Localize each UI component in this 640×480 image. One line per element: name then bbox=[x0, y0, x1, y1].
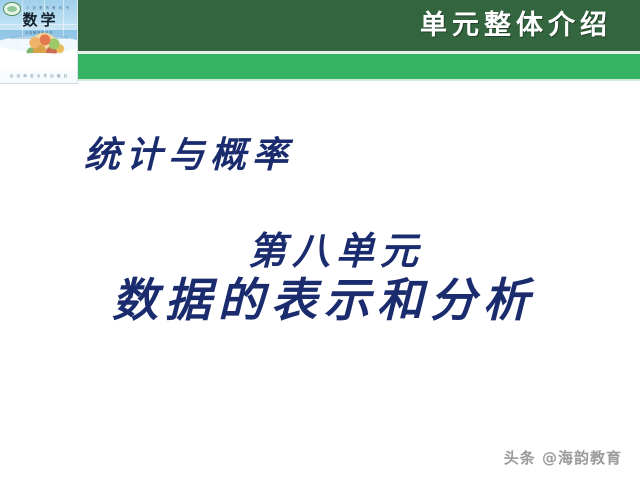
header-title: 单元整体介绍 bbox=[420, 6, 612, 46]
title-topic: 统计与概率 bbox=[84, 126, 294, 178]
header-band-light-edge bbox=[0, 79, 640, 81]
title-subject: 数据的表示和分析 bbox=[112, 264, 536, 330]
book-ground bbox=[0, 53, 78, 69]
book-top-line: 义 务 教 育 教 科 书 bbox=[26, 5, 70, 10]
book-title: 数学 bbox=[0, 13, 78, 28]
presentation-slide: 单元整体介绍 义 务 教 育 教 科 书 数学 义务教育教科书 北 京 师 范 … bbox=[0, 0, 640, 480]
watermark: 头条 @海韵教育 bbox=[504, 447, 622, 468]
book-publisher: 北 京 师 范 大 学 出 版 社 bbox=[0, 74, 78, 79]
textbook-cover-image: 义 务 教 育 教 科 书 数学 义务教育教科书 北 京 师 范 大 学 出 版… bbox=[0, 0, 78, 84]
header-band-light bbox=[0, 54, 640, 79]
